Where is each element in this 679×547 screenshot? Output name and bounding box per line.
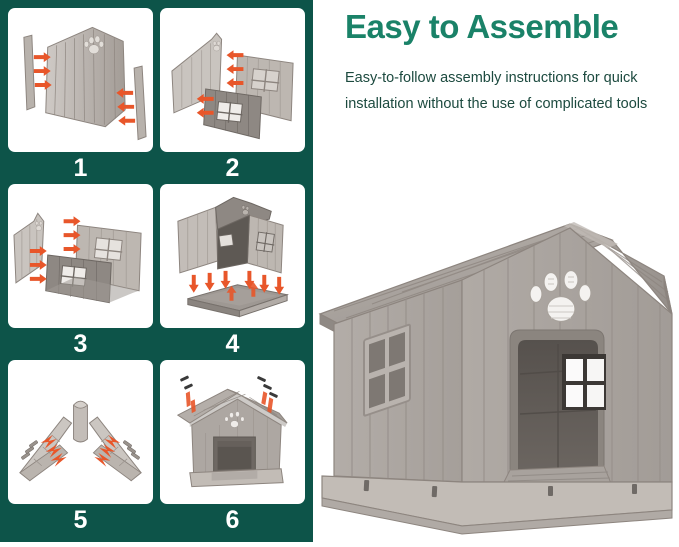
step-6-artwork <box>160 360 305 504</box>
step-4-number: 4 <box>160 330 305 360</box>
step-2-illustration-card <box>160 8 305 152</box>
left-roof-panel <box>20 417 72 481</box>
right-wall-window <box>94 238 122 261</box>
step-4-illustration-card <box>160 184 305 328</box>
step-1-illustration-card <box>8 8 153 152</box>
front-window <box>217 102 243 123</box>
assembly-step-1: 1 <box>8 8 153 184</box>
right-roof-panel <box>89 417 141 481</box>
roof-ridge-cap <box>74 401 88 442</box>
dog-house-illustration <box>312 214 679 542</box>
interior-window <box>562 354 606 410</box>
step-4-artwork <box>160 184 305 328</box>
right-assembly-arrows <box>116 88 135 126</box>
step-5-artwork <box>8 360 153 504</box>
step-3-artwork <box>8 184 153 328</box>
side-window <box>364 324 410 416</box>
left-assembly-arrows <box>34 52 52 90</box>
base-plinth <box>322 476 672 534</box>
assembly-step-5: 5 <box>8 360 153 536</box>
front-wall-panel <box>46 27 125 126</box>
assembled-walls <box>178 197 283 272</box>
assembly-step-4: 4 <box>160 184 305 360</box>
left-gable-wall <box>14 213 44 283</box>
step-6-number: 6 <box>160 506 305 536</box>
left-side-rail <box>24 35 35 109</box>
step-2-number: 2 <box>160 154 305 184</box>
assembly-step-2: 2 <box>160 8 305 184</box>
page-title: Easy to Assemble <box>345 8 675 46</box>
assembly-steps-grid: 1 <box>0 0 313 542</box>
step-6-illustration-card <box>160 360 305 504</box>
step-4-window <box>256 232 274 252</box>
step-1-number: 1 <box>8 154 153 184</box>
product-photo <box>312 214 679 542</box>
step-1-artwork <box>8 8 153 152</box>
infographic-root: 1 <box>0 0 679 542</box>
floor-base-panel <box>188 285 287 317</box>
step-5-illustration-card <box>8 360 153 504</box>
page-subcopy: Easy-to-follow assembly instructions for… <box>345 66 667 118</box>
assembly-step-3: 3 <box>8 184 153 360</box>
step-2-artwork <box>160 8 305 152</box>
step-3-number: 3 <box>8 330 153 360</box>
right-side-rail <box>134 66 146 139</box>
wall-window <box>251 69 279 92</box>
step-3-illustration-card <box>8 184 153 328</box>
step-5-number: 5 <box>8 506 153 536</box>
assembly-step-6: 6 <box>160 360 305 536</box>
doorway <box>502 330 612 486</box>
